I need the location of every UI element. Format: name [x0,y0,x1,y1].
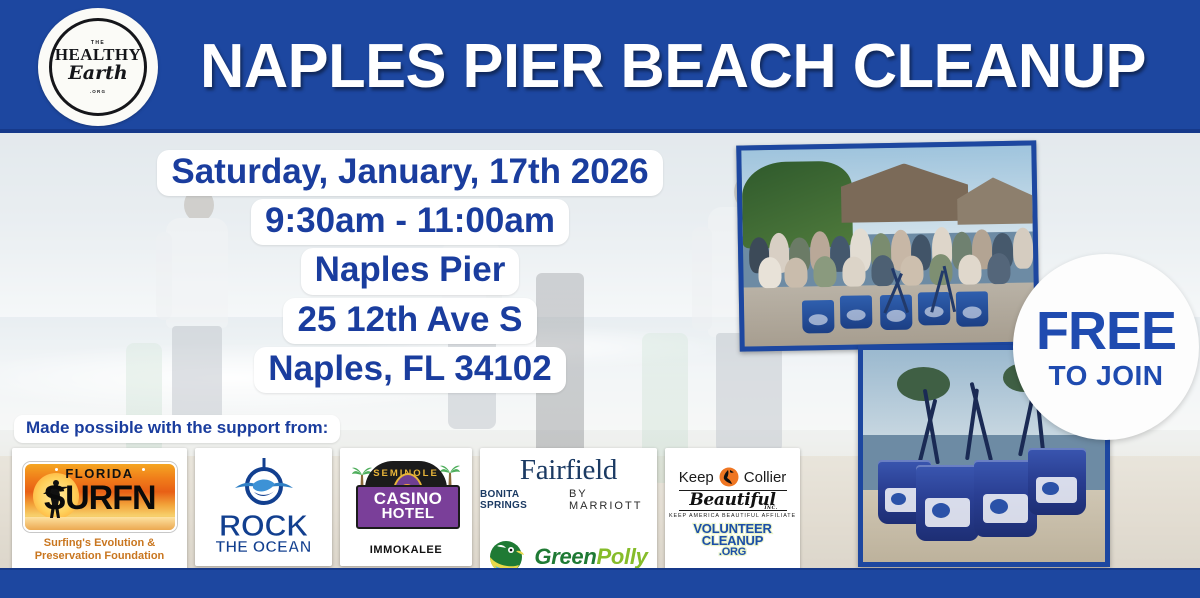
event-date: Saturday, January, 17th 2026 [157,150,662,196]
sponsor-fairfield-greenpolly: Fairfield BONITA SPRINGS BY MARRIOTT Gre… [480,448,657,580]
sponsors-heading: Made possible with the support from: [14,415,340,443]
fairfield-brand: Fairfield [520,456,617,485]
beautiful-text: Beautiful [689,490,775,510]
free-label: FREE [1036,304,1176,358]
greenpolly-part2: Polly [597,544,648,569]
healthy-earth-logo: THE HEALTHY Earth .ORG [38,8,158,126]
event-street: 25 12th Ave S [283,298,536,344]
volunteer-cleanup-logo: VOLUNTEER CLEANUP .ORG [693,523,771,557]
volunteer-group-photo [736,140,1040,351]
rock-line-2: THE OCEAN [215,540,311,556]
surfn-caption: Surfing's Evolution & Preservation Found… [35,537,165,562]
sponsor-rock-the-ocean: ROCK THE OCEAN [195,448,332,566]
immokalee-label: IMMOKALEE [370,544,443,556]
bucket [916,465,979,541]
event-details: Saturday, January, 17th 2026 9:30am - 11… [140,150,680,396]
keep-label: Keep [679,469,714,486]
event-venue: Naples Pier [301,248,520,294]
greenpolly-text: GreenPolly [534,546,647,568]
sponsor-keep-collier-beautiful: Keep Collier Beautiful INC. KEEP AMERICA… [665,448,800,576]
event-flyer: THE HEALTHY Earth .ORG NAPLES PIER BEACH… [0,0,1200,598]
footer-bar [0,570,1200,598]
seminole-sign: SEMINOLE CASINO HOTEL [351,459,461,541]
sun-bird-icon [716,467,742,489]
bucket [1028,448,1086,516]
logo-ring: THE HEALTHY Earth .ORG [49,18,147,116]
collier-label: Collier [744,469,787,486]
fairfield-location: BONITA SPRINGS [480,489,561,511]
beautiful-label: Beautiful INC. [689,492,775,509]
logo-org-text: .ORG [90,89,106,94]
casino-hotel-box: CASINO HOTEL [356,485,460,529]
sponsor-florida-surfn: FLORIDA SURFN Surfing's Evolution & Pres… [12,448,187,576]
rock-line-1: ROCK [219,512,308,541]
event-time: 9:30am - 11:00am [251,199,569,245]
header-bottom-strip [0,129,1200,133]
sponsor-logos: FLORIDA SURFN Surfing's Evolution & Pres… [12,448,800,580]
photo-crowd [742,204,1033,291]
kab-affiliate-label: KEEP AMERICA BEAUTIFUL AFFILIATE [669,513,796,519]
fairfield-by-marriott: BY MARRIOTT [569,488,657,512]
event-city-state-zip: Naples, FL 34102 [254,347,565,393]
surfn-caption-line2: Preservation Foundation [35,550,165,563]
hotel-label: HOTEL [382,507,435,521]
logo-healthy-text: HEALTHY [55,46,141,64]
vc-org-label: .ORG [693,547,771,557]
free-to-join-badge: FREE TO JOIN [1013,254,1199,440]
page-title: NAPLES PIER BEACH CLEANUP [200,26,1170,106]
surfn-caption-line1: Surfing's Evolution & [35,537,165,550]
logo-earth-text: Earth [68,64,127,83]
inc-label: INC. [764,507,777,512]
fairfield-subtitle: BONITA SPRINGS BY MARRIOTT [480,488,657,512]
keep-collier-row: Keep Collier [669,467,796,489]
sponsor-seminole-casino-hotel: SEMINOLE CASINO HOTEL IMMOKALEE [340,448,472,566]
florida-license-plate: FLORIDA SURFN [23,462,177,532]
to-join-label: TO JOIN [1048,362,1163,390]
plate-text: SURFN [25,481,175,515]
greenpolly-part1: Green [534,544,596,569]
rock-the-ocean-emblem-icon [233,458,295,510]
